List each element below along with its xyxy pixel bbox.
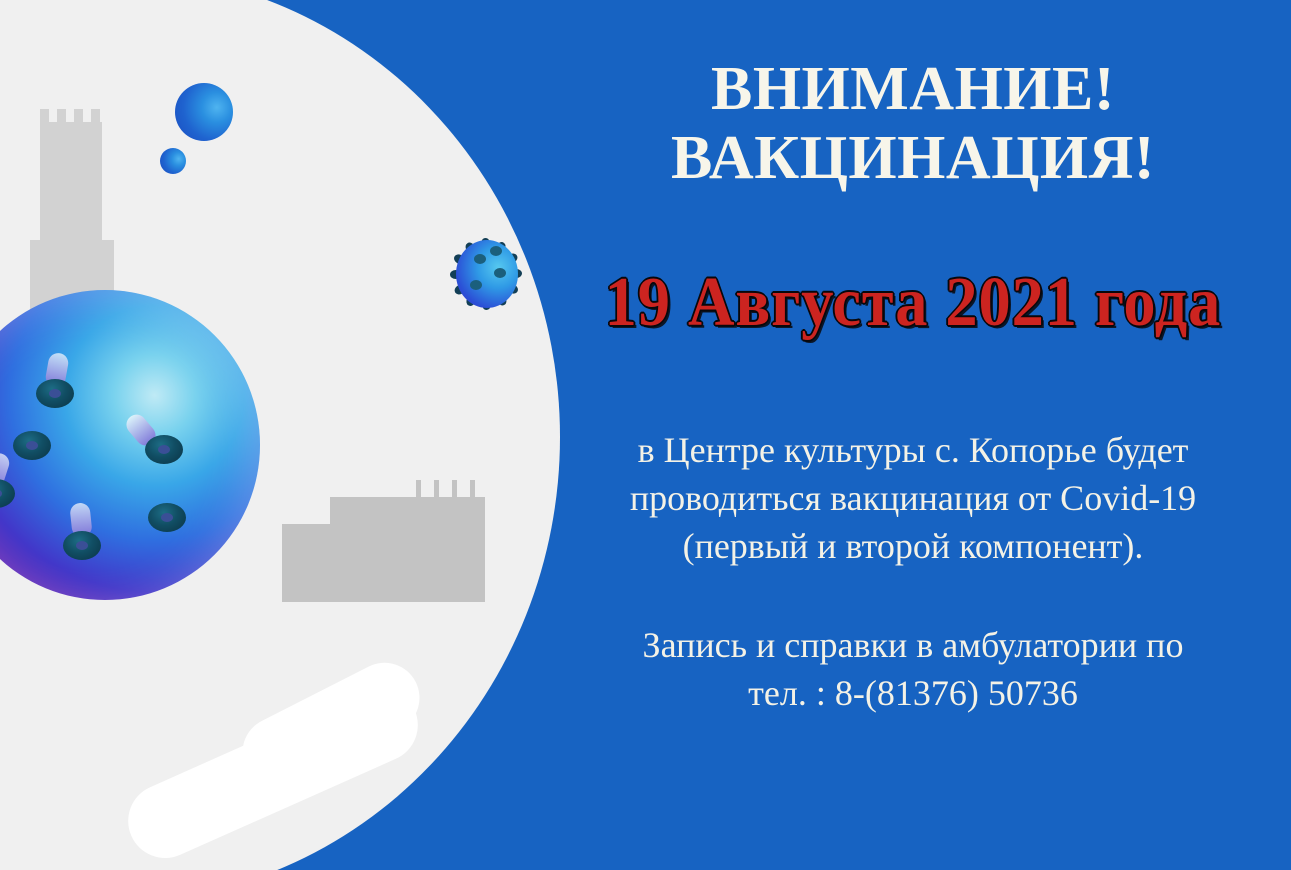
illustration-panel: [0, 0, 600, 870]
contact-phone: тел. : 8-(81376) 50736: [545, 670, 1281, 718]
body-line-1: в Центре культуры с. Копорье будет: [545, 427, 1281, 475]
body-line-2: проводиться вакцинация от Covid-19: [545, 475, 1281, 523]
poster-contact-text: Запись и справки в амбулатории по тел. :…: [545, 622, 1281, 718]
large-blue-sphere: [175, 83, 233, 141]
event-date: 19 Августа 2021 года: [565, 268, 1261, 338]
coronavirus-particle-icon: [0, 235, 315, 655]
poster-body-text: в Центре культуры с. Копорье будет прово…: [545, 427, 1281, 571]
body-line-3: (первый и второй компонент).: [545, 523, 1281, 571]
text-panel: ВНИМАНИЕ! ВАКЦИНАЦИЯ! 19 Августа 2021 го…: [535, 0, 1291, 870]
small-coronavirus-particle-icon: [440, 224, 532, 324]
vaccination-announcement-poster: ВНИМАНИЕ! ВАКЦИНАЦИЯ! 19 Августа 2021 го…: [0, 0, 1291, 870]
poster-headline: ВНИМАНИЕ! ВАКЦИНАЦИЯ!: [535, 55, 1291, 194]
headline-line-1: ВНИМАНИЕ!: [711, 55, 1115, 123]
headline-line-2: ВАКЦИНАЦИЯ!: [535, 124, 1291, 193]
gray-building-block: [330, 497, 485, 602]
small-blue-sphere: [160, 148, 186, 174]
white-accent-bar: [116, 676, 429, 870]
illustration-clip-region: [0, 0, 560, 870]
contact-line-1: Запись и справки в амбулатории по: [545, 622, 1281, 670]
